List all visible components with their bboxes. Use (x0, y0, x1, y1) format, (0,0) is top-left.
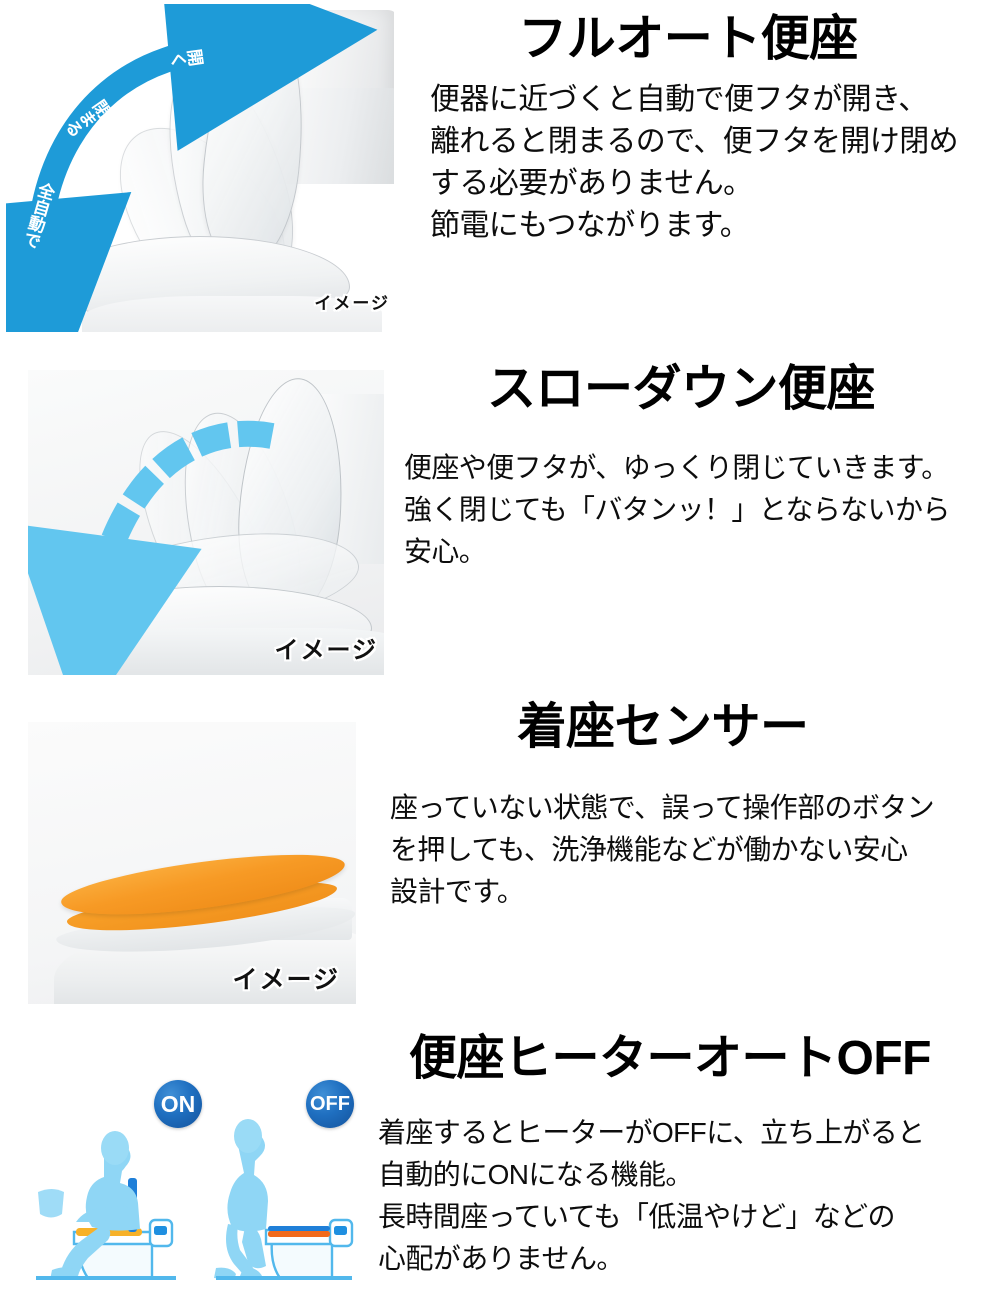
feature-text-slow-down-seat: スローダウン便座 便座や便フタが、ゆっくり閉じていきます。 強く閉じても「バタン… (376, 348, 1000, 573)
feature-section-slow-down-seat: イメージ スローダウン便座 便座や便フタが、ゆっくり閉じていきます。 強く閉じて… (0, 348, 1000, 678)
left-scene-seated (36, 1131, 176, 1280)
feature-text-seat-heater-auto-off: 便座ヒーターオートOFF 着座するとヒーターがOFFに、立ち上がると 自動的にO… (350, 1020, 1000, 1280)
right-scene-standing (214, 1119, 352, 1280)
feature-text-seating-sensor: 着座センサー 座っていない状態で、誤って操作部のボタン を押しても、洗浄機能など… (360, 678, 1000, 913)
feature-body-slow-down-seat: 便座や便フタが、ゆっくり閉じていきます。 強く閉じても「バタンッ！」とならないか… (376, 415, 1000, 573)
feature-page: 開く 閉まる 全自動で イメージ フルオート便座 便器に近づくと自動で便フタが開… (0, 0, 1000, 1300)
feature-body-seating-sensor: 座っていない状態で、誤って操作部のボタン を押しても、洗浄機能などが働かない安心… (360, 753, 1000, 913)
feature-image-seating-sensor: イメージ (28, 722, 356, 1004)
image-caption-imeji: イメージ (314, 289, 390, 314)
arrow-label-open: 開く (168, 42, 205, 71)
feature-heading-full-auto-seat: フルオート便座 (400, 0, 1000, 65)
feature-image-slow-down-seat: イメージ (28, 370, 384, 675)
feature-text-full-auto-seat: フルオート便座 便器に近づくと自動で便フタが開き、 離れると閉まるので、便フタを… (400, 0, 1000, 247)
toilet-slow-close-illustration: イメージ (28, 370, 384, 675)
heater-on-off-illustration: ON OFF (0, 1064, 370, 1300)
toilet-seat-sensor-illustration: イメージ (28, 722, 356, 1004)
toilet-auto-lid-illustration: 開く 閉まる 全自動で イメージ (6, 4, 394, 332)
feature-image-seat-heater-auto-off: ON OFF (0, 1064, 370, 1300)
feature-body-full-auto-seat: 便器に近づくと自動で便フタが開き、 離れると閉まるので、便フタを開け閉め する必… (400, 65, 1000, 247)
badge-off-label: OFF (310, 1093, 350, 1116)
feature-section-seating-sensor: イメージ 着座センサー 座っていない状態で、誤って操作部のボタン を押しても、洗… (0, 678, 1000, 1020)
feature-section-seat-heater-auto-off: ON OFF 便座ヒーターオートOFF 着座するとヒーターがOFFに、立ち上がる… (0, 1020, 1000, 1300)
image-caption-imeji: イメージ (232, 960, 340, 996)
feature-image-full-auto-seat: 開く 閉まる 全自動で イメージ (6, 4, 394, 332)
badge-off: OFF (306, 1080, 354, 1128)
badge-on-label: ON (161, 1091, 196, 1118)
feature-body-seat-heater-auto-off: 着座するとヒーターがOFFに、立ち上がると 自動的にONになる機能。 長時間座っ… (350, 1084, 1000, 1280)
feature-heading-seating-sensor: 着座センサー (360, 678, 1000, 753)
feature-section-full-auto-seat: 開く 閉まる 全自動で イメージ フルオート便座 便器に近づくと自動で便フタが開… (0, 0, 1000, 348)
feature-heading-slow-down-seat: スローダウン便座 (376, 348, 1000, 415)
image-caption-imeji: イメージ (274, 630, 378, 665)
badge-on: ON (154, 1080, 202, 1128)
feature-heading-seat-heater-auto-off: 便座ヒーターオートOFF (350, 1020, 1000, 1084)
